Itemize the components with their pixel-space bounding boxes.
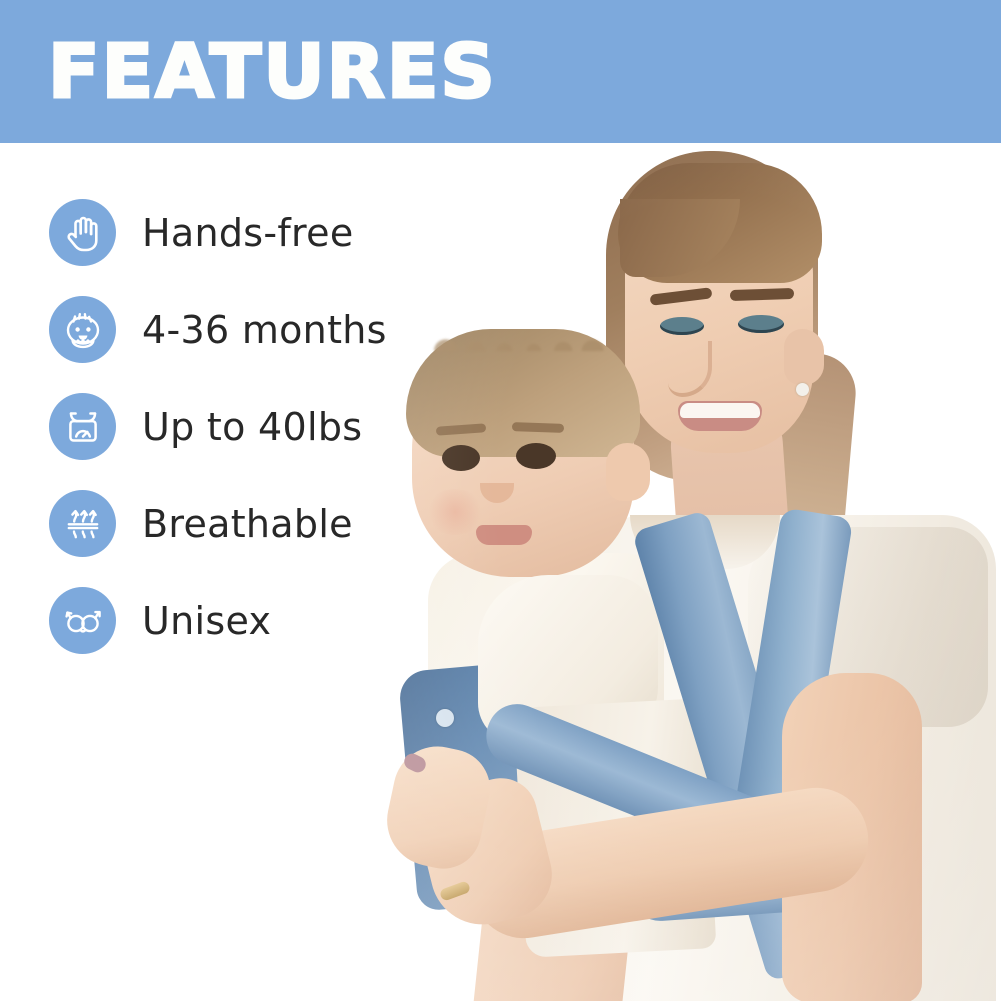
mother-eye-left [660,317,704,335]
baby-overall-button [436,709,454,727]
feature-label: Breathable [142,492,353,559]
features-banner: FEATURES [0,0,1001,143]
feature-row: Breathable [49,490,449,587]
unisex-icon [49,587,116,654]
mother-mouth [678,401,762,431]
feature-row: Unisex [49,587,449,684]
feature-label: 4-36 months [142,298,387,365]
baby-mouth [476,525,532,545]
feature-row: Hands-free [49,199,449,296]
feature-label: Up to 40lbs [142,395,362,462]
mother-teeth [680,403,760,418]
feature-label: Unisex [142,589,271,656]
baby-ear [606,443,650,501]
mother-ear [784,329,824,385]
feature-row: 4-36 months [49,296,449,393]
airflow-icon [49,490,116,557]
baby-eyebrow-right [512,422,564,433]
feature-label: Hands-free [142,201,354,268]
baby-face-icon [49,296,116,363]
feature-row: Up to 40lbs [49,393,449,490]
product-feature-graphic: FEATURES [0,0,1001,1001]
hand-icon [49,199,116,266]
mother-eyebrow-right [730,288,794,301]
page-title: FEATURES [48,24,497,120]
feature-list: Hands-free 4-36 months [49,199,449,684]
baby-eye-right [516,443,556,469]
mother-eye-right [738,315,784,333]
mother-earring [796,383,809,396]
baby-hair-wisps [426,325,622,351]
weight-scale-icon [49,393,116,460]
